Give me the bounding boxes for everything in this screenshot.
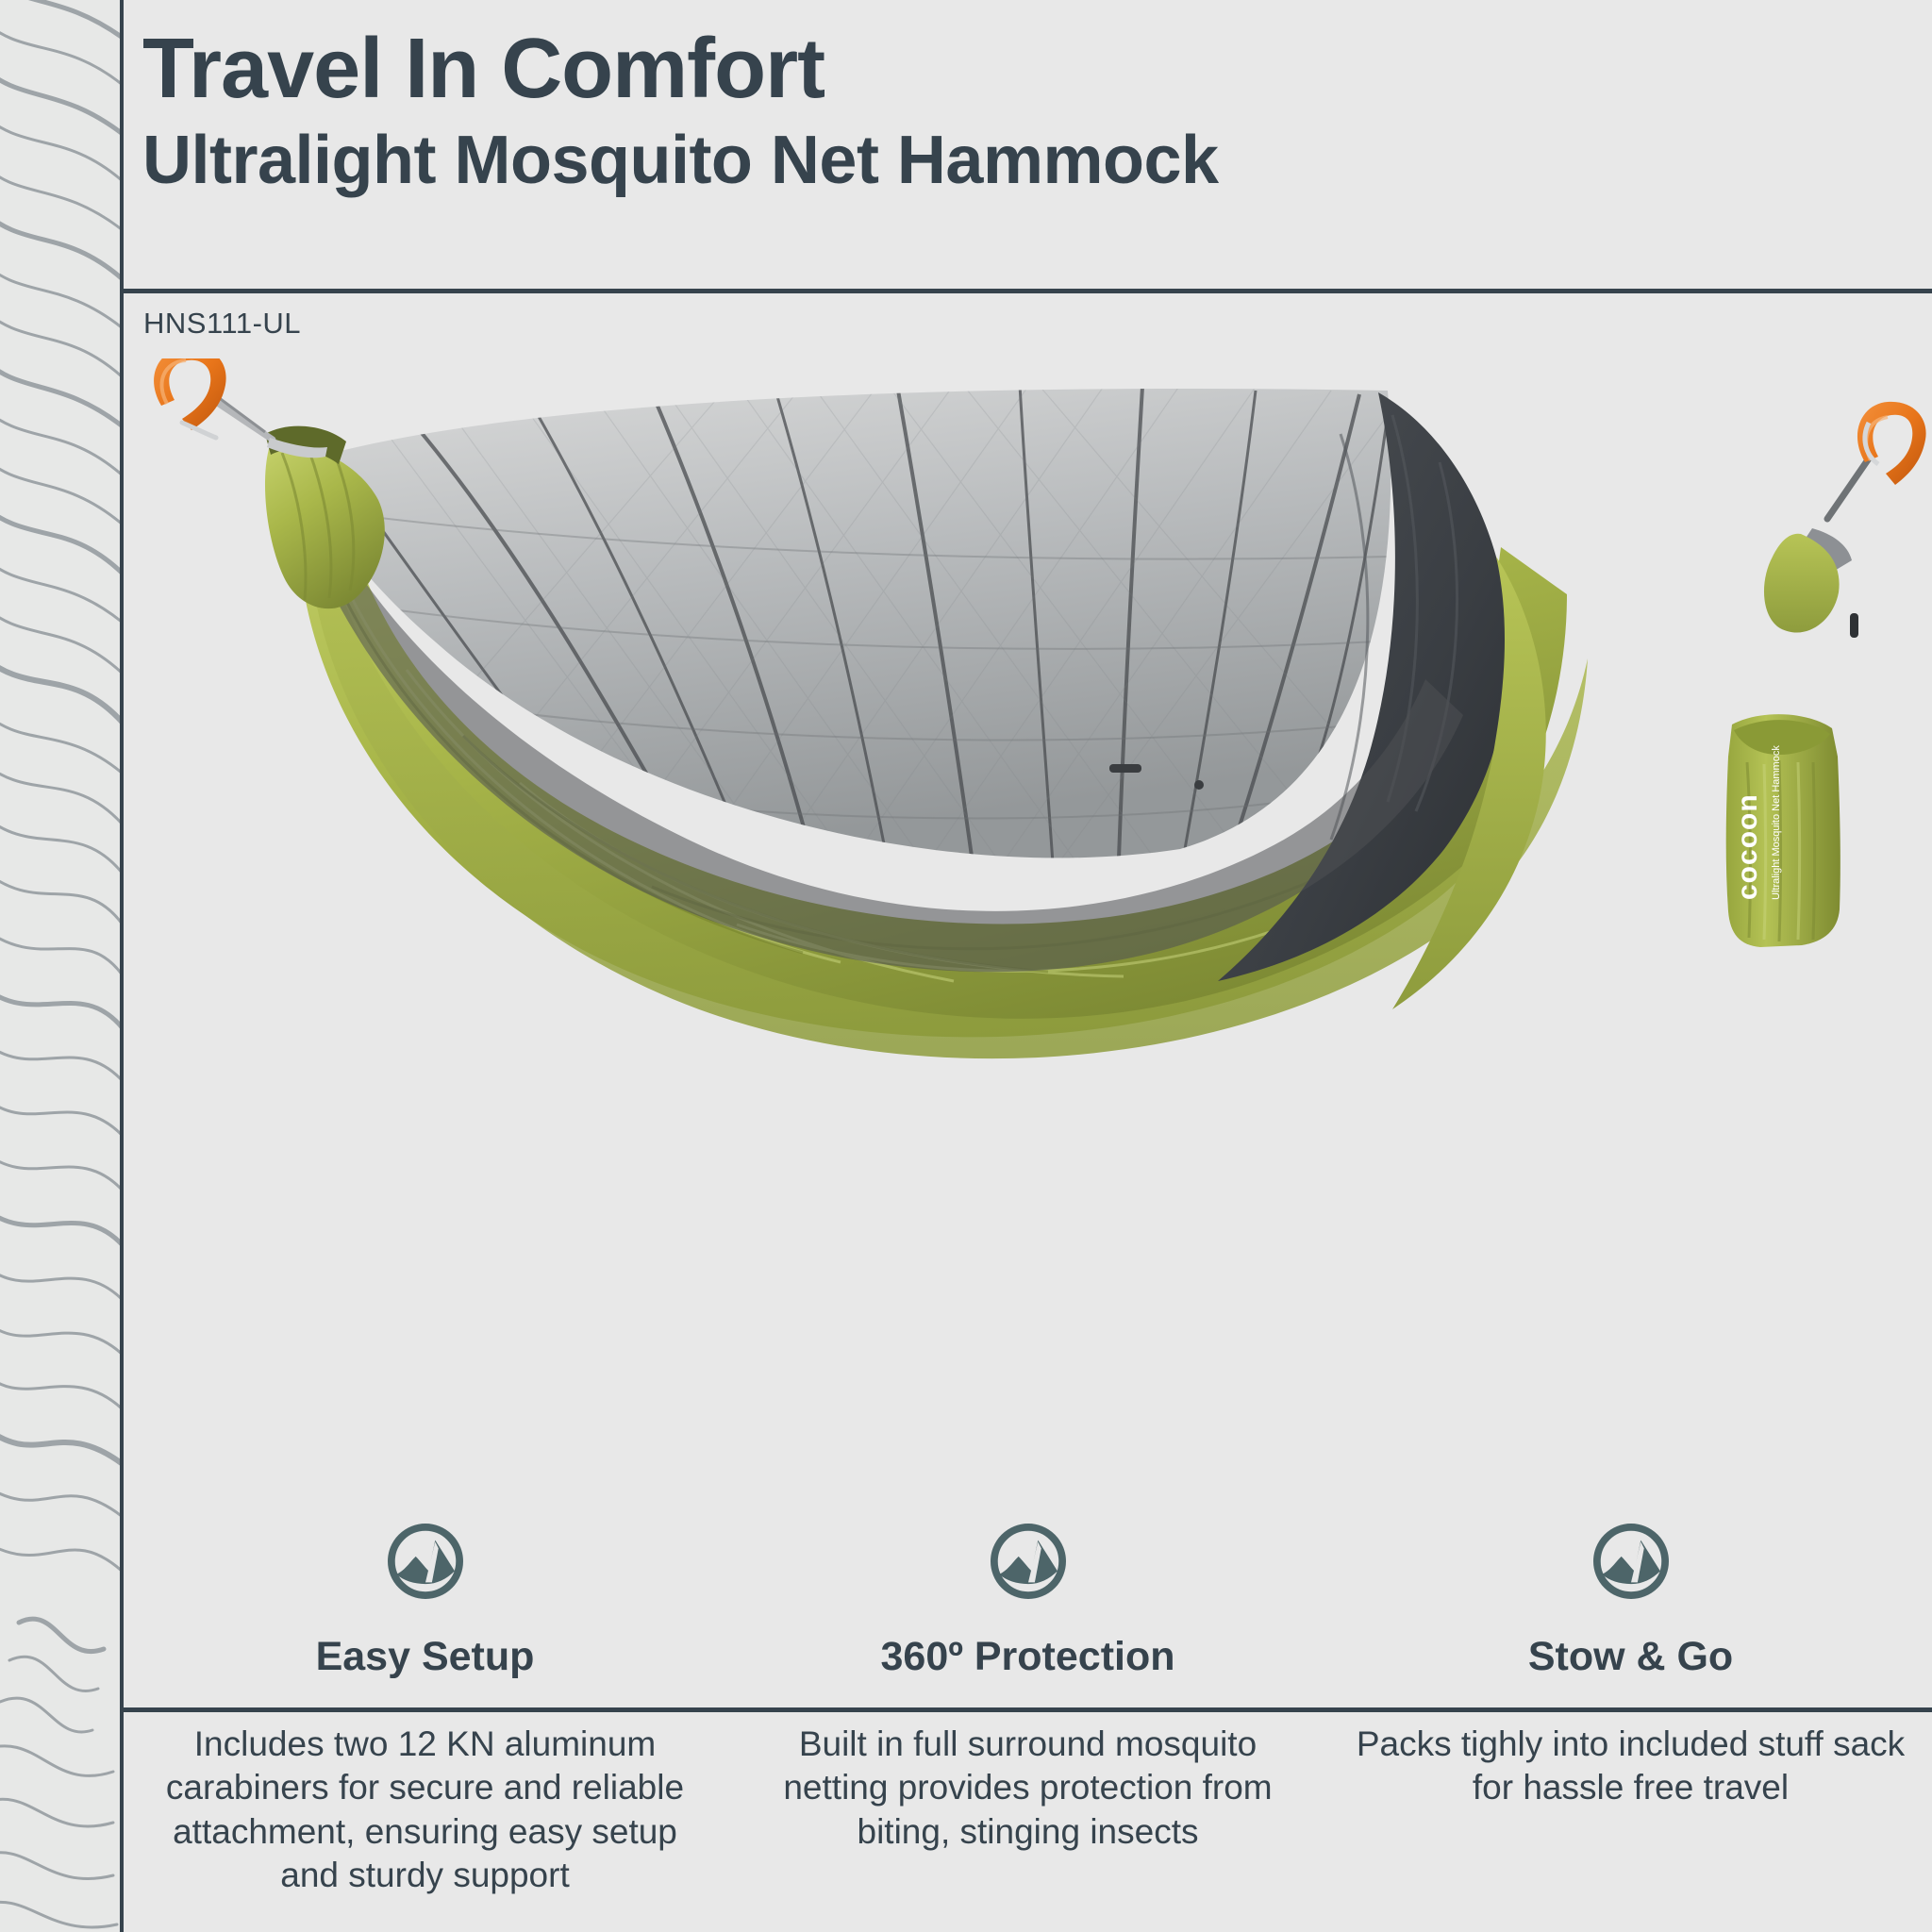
feature-description: Packs tighly into included stuff sack fo… — [1329, 1723, 1932, 1897]
svg-text:Ultralight Mosquito Net Hammoc: Ultralight Mosquito Net Hammock — [1771, 745, 1782, 900]
features-section: Easy Setup 360º Protection — [124, 1500, 1932, 1932]
feature-title: 360º Protection — [880, 1634, 1174, 1680]
feature-title: Stow & Go — [1528, 1634, 1733, 1680]
page-subtitle: Ultralight Mosquito Net Hammock — [142, 126, 1219, 194]
feature-description: Includes two 12 KN aluminum carabiners f… — [124, 1723, 726, 1897]
header-divider — [121, 289, 1932, 293]
features-divider — [121, 1707, 1932, 1712]
header: Travel In Comfort Ultralight Mosquito Ne… — [124, 0, 1932, 291]
product-hero-image: cocoon Ultralight Mosquito Net Hammock — [124, 358, 1932, 1472]
sku-label: HNS111-UL — [143, 307, 301, 341]
svg-text:cocoon: cocoon — [1732, 793, 1763, 900]
feature-column-easy-setup: Easy Setup — [124, 1500, 726, 1680]
feature-title: Easy Setup — [316, 1634, 535, 1680]
feature-column-stow-and-go: Stow & Go — [1329, 1500, 1932, 1680]
feature-description: Built in full surround mosquito netting … — [726, 1723, 1329, 1897]
page-title: Travel In Comfort — [142, 26, 824, 111]
mountain-circle-icon — [988, 1521, 1069, 1602]
feature-column-360-protection: 360º Protection — [726, 1500, 1329, 1680]
mountain-circle-icon — [1591, 1521, 1672, 1602]
infographic-page: Travel In Comfort Ultralight Mosquito Ne… — [0, 0, 1932, 1932]
feature-headers-row: Easy Setup 360º Protection — [124, 1500, 1932, 1680]
feature-descriptions-row: Includes two 12 KN aluminum carabiners f… — [124, 1723, 1932, 1897]
mountain-circle-icon — [385, 1521, 466, 1602]
topographic-pattern-strip — [0, 0, 123, 1932]
